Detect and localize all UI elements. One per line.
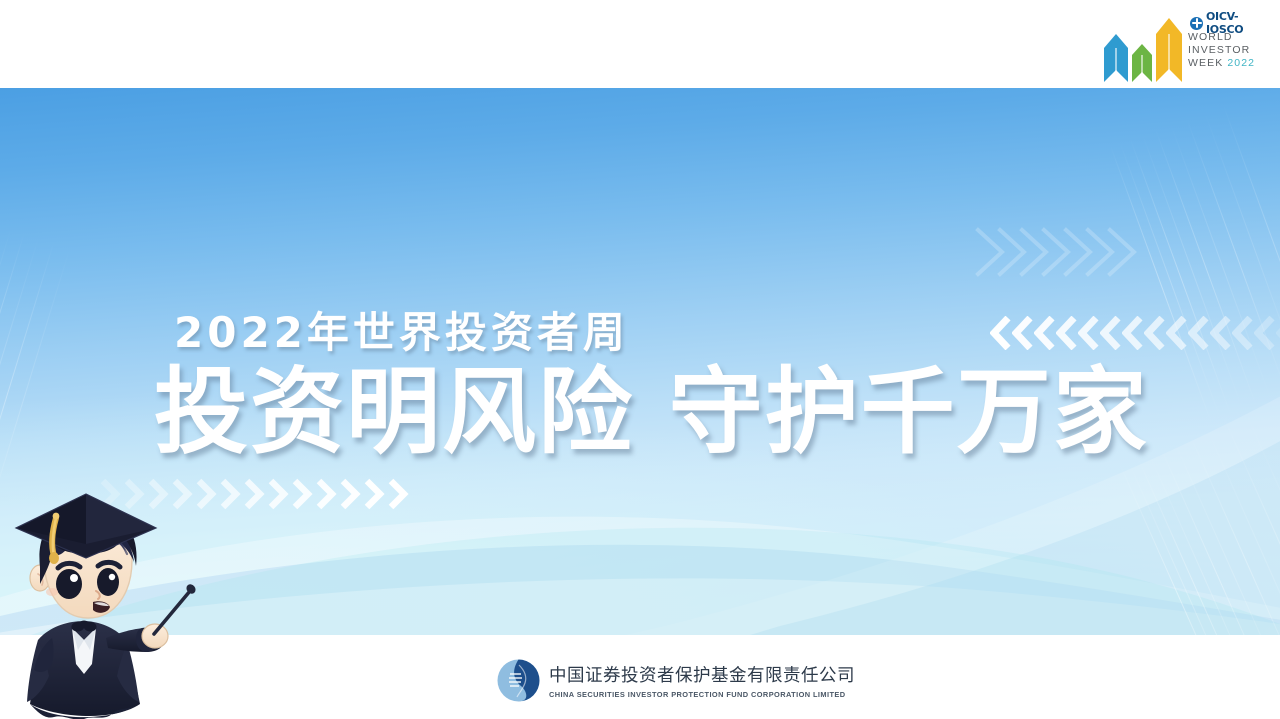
wiw-line-week: WEEK 2022 (1188, 57, 1255, 70)
chevron-left-icon (1188, 316, 1210, 350)
slide-canvas: 2022年世界投资者周 投资明风险 守护千万家 (0, 0, 1280, 719)
chevron-right-icon (338, 478, 362, 510)
chevron-left-icon (1078, 316, 1100, 350)
chevron-left-icon (1122, 316, 1144, 350)
wiw-line-investor: INVESTOR (1188, 44, 1255, 57)
sipf-logo-text: 中国证券投资者保护基金有限责任公司 CHINA SECURITIES INVES… (549, 662, 855, 699)
chevron-left-icon (1100, 316, 1122, 350)
sipf-emblem-icon (497, 659, 540, 702)
chevron-row-right (990, 316, 1280, 350)
chevron-left-icon (1144, 316, 1166, 350)
chevron-left-icon (1166, 316, 1188, 350)
sipf-logo: 中国证券投资者保护基金有限责任公司 CHINA SECURITIES INVES… (497, 659, 855, 702)
pencil-blue (1104, 34, 1128, 82)
chevron-left-icon (1034, 316, 1056, 350)
chevron-right-icon (314, 478, 338, 510)
chevron-right-icon (266, 478, 290, 510)
chevron-left-icon (1210, 316, 1232, 350)
top-header-bar: OICV-IOSCO WORLD INVESTOR WEEK 2022 (0, 0, 1280, 88)
chevron-right-icon (386, 478, 410, 510)
wiw-year: 2022 (1227, 57, 1255, 69)
chevron-left-icon (1056, 316, 1078, 350)
chevron-left-icon (1254, 316, 1276, 350)
chevron-right-icon (362, 478, 386, 510)
wiw-week-word: WEEK (1188, 57, 1223, 69)
chevron-right-icon (290, 478, 314, 510)
chevron-right-icon (218, 478, 242, 510)
sipf-name-cn: 中国证券投资者保护基金有限责任公司 (549, 662, 855, 687)
wiw-pencils-icon (1104, 16, 1184, 82)
pencil-yellow (1156, 18, 1182, 82)
banner-headline: 投资明风险 守护千万家 (154, 364, 1149, 463)
world-investor-week-logo: OICV-IOSCO WORLD INVESTOR WEEK 2022 (1102, 4, 1266, 84)
chevron-left-icon (1012, 316, 1034, 350)
chevron-left-icon (1276, 316, 1280, 350)
watermark-chevrons (972, 222, 1162, 292)
pencil-green (1132, 44, 1152, 82)
sipf-name-en: CHINA SECURITIES INVESTOR PROTECTION FUN… (549, 690, 855, 699)
mascot-graduate-character (0, 488, 209, 719)
iosco-globe-icon (1190, 17, 1203, 30)
wiw-line-world: WORLD (1188, 31, 1255, 44)
wiw-logo-text: WORLD INVESTOR WEEK 2022 (1188, 31, 1255, 69)
chevron-right-icon (242, 478, 266, 510)
chevron-left-icon (990, 316, 1012, 350)
banner-subtitle: 2022年世界投资者周 (174, 299, 629, 360)
chevron-left-icon (1232, 316, 1254, 350)
